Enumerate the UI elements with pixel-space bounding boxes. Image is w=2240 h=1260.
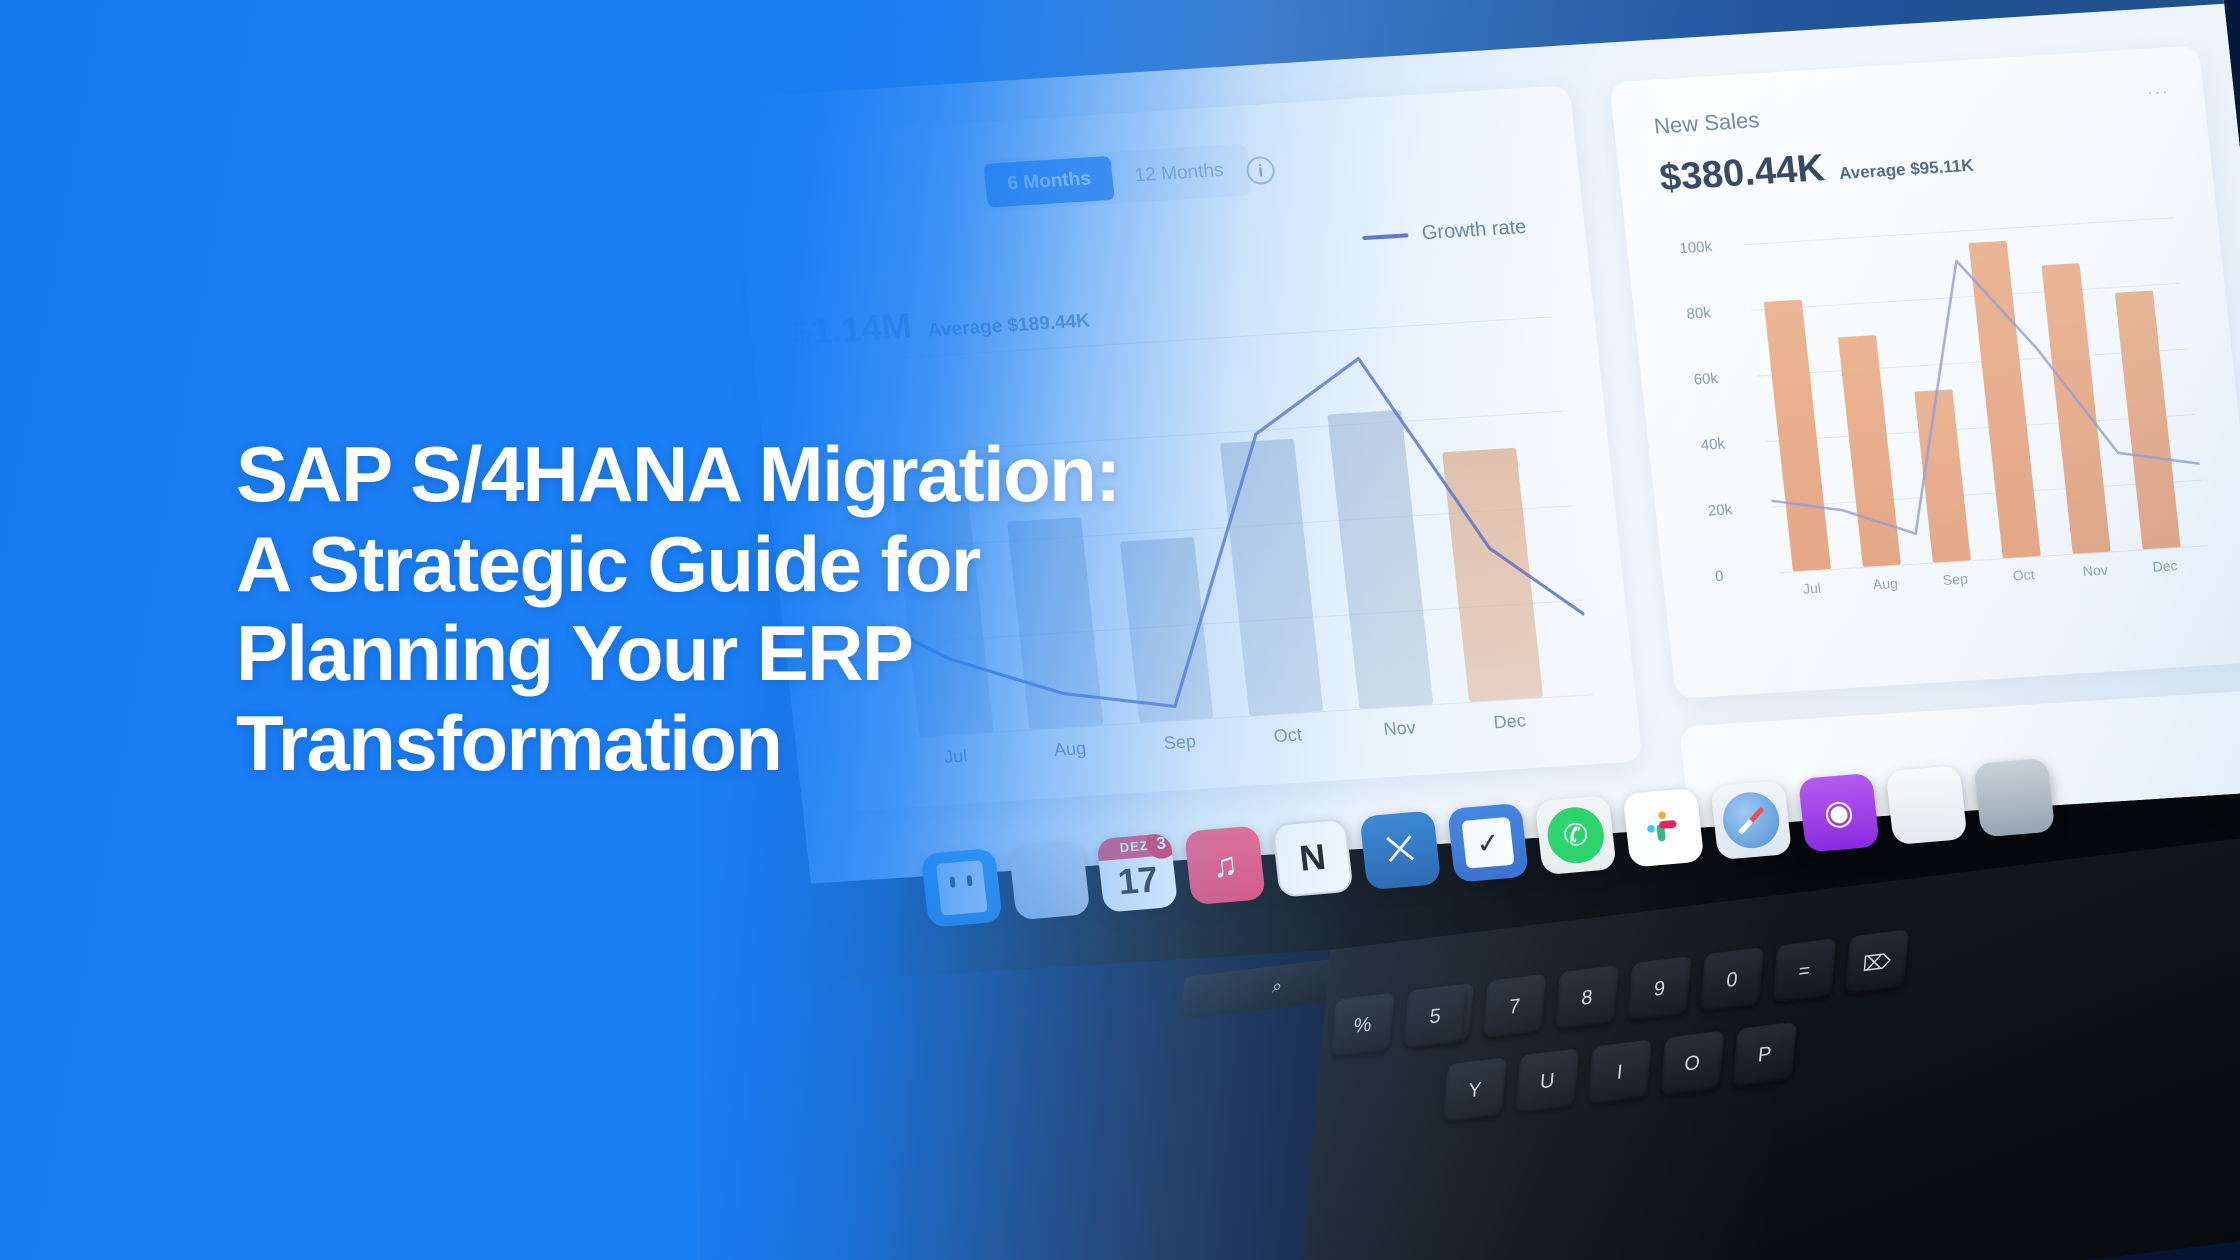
key-p[interactable]: P bbox=[1732, 1022, 1797, 1088]
ytick-40k: 40k bbox=[1700, 436, 1726, 454]
headline-line-1: SAP S/4HANA Migration: bbox=[236, 430, 1416, 520]
ytick-60k: 60k bbox=[1693, 370, 1719, 388]
touchbar-search-icon[interactable]: ⌕ bbox=[1271, 975, 1283, 998]
key-i[interactable]: I bbox=[1587, 1039, 1652, 1105]
new-sales-xtick-sep: Sep bbox=[1942, 571, 1969, 588]
stat-received-label: Received bbox=[874, 0, 1003, 6]
key-7[interactable]: 7 bbox=[1482, 974, 1547, 1040]
page-title: SAP S/4HANA Migration: A Strategic Guide… bbox=[236, 430, 1416, 789]
key-o[interactable]: O bbox=[1660, 1031, 1725, 1097]
notion-icon[interactable]: N bbox=[1272, 818, 1354, 898]
key-5[interactable]: 5 bbox=[1403, 983, 1468, 1049]
new-sales-xtick-jul: Jul bbox=[1802, 580, 1822, 597]
podcasts-icon[interactable]: ◉ bbox=[1798, 773, 1880, 853]
ytick-20k: 20k bbox=[1707, 501, 1733, 519]
stat-row: $163.63K Received $202.36K Last month bbox=[870, 0, 1227, 6]
growth-kpi-average: Average $189.44K bbox=[927, 310, 1091, 342]
growth-legend: Growth rate bbox=[1361, 216, 1528, 249]
slack-icon[interactable] bbox=[1622, 788, 1704, 868]
keyboard-row-percent: % 5 bbox=[1330, 983, 1467, 1058]
whatsapp-glyph: ✆ bbox=[1561, 817, 1590, 854]
new-sales-kpi: $380.44K Average $95.11K bbox=[1658, 138, 1976, 200]
headline-line-4: Transformation bbox=[236, 699, 1416, 789]
calendar-icon[interactable]: DEZ 17 3 bbox=[1096, 833, 1178, 913]
key-y[interactable]: Y bbox=[1442, 1057, 1507, 1123]
preview-icon[interactable] bbox=[1886, 765, 1968, 845]
new-sales-xtick-oct: Oct bbox=[2012, 566, 2035, 583]
headline-line-2: A Strategic Guide for bbox=[236, 520, 1416, 610]
ytick-100k: 100k bbox=[1679, 238, 1713, 257]
key-delete[interactable]: ⌦ bbox=[1844, 929, 1909, 995]
new-sales-card: New Sales ··· $380.44K Average $95.11K 1… bbox=[1609, 45, 2240, 698]
growth-kpi-value: $1.14M bbox=[789, 305, 914, 354]
new-sales-title: New Sales bbox=[1653, 107, 1761, 139]
key-u[interactable]: U bbox=[1515, 1048, 1580, 1114]
new-sales-xtick-dec: Dec bbox=[2152, 557, 2179, 574]
slack-logo bbox=[1638, 803, 1689, 853]
calendar-day-label: 17 bbox=[1099, 857, 1177, 905]
vscode-glyph: ⨉ bbox=[1385, 830, 1416, 871]
finder-icon[interactable] bbox=[921, 848, 1003, 928]
key-percent[interactable]: % bbox=[1330, 992, 1395, 1058]
key-0[interactable]: 0 bbox=[1700, 947, 1765, 1013]
new-sales-trend-line bbox=[1743, 217, 2208, 572]
safari-icon[interactable] bbox=[1710, 780, 1792, 860]
legend-line-swatch bbox=[1362, 233, 1408, 240]
legend-label: Growth rate bbox=[1421, 216, 1528, 245]
whatsapp-icon[interactable]: ✆ bbox=[1535, 795, 1617, 875]
music-icon[interactable]: ♫ bbox=[1184, 825, 1266, 905]
new-sales-xtick-nov: Nov bbox=[2082, 562, 2109, 579]
stat-received: $163.63K Received bbox=[870, 0, 1004, 6]
overflow-menu-icon[interactable]: ··· bbox=[2147, 83, 2171, 102]
vscode-icon[interactable]: ⨉ bbox=[1359, 810, 1441, 890]
new-sales-kpi-value: $380.44K bbox=[1658, 147, 1827, 200]
growth-kpi: $1.14M Average $189.44K bbox=[789, 294, 1091, 354]
headline-line-3: Planning Your ERP bbox=[236, 609, 1416, 699]
key-equals[interactable]: = bbox=[1772, 938, 1837, 1004]
keyboard-row-numbers: 6 7 8 9 0 = ⌦ bbox=[1410, 929, 1909, 1049]
ytick-80k: 80k bbox=[1686, 304, 1712, 322]
hero-banner: $163.63K Received $202.36K Last month Ex… bbox=[0, 0, 2240, 1260]
key-9[interactable]: 9 bbox=[1627, 956, 1692, 1022]
new-sales-xtick-aug: Aug bbox=[1872, 575, 1899, 592]
period-6-months-button[interactable]: 6 Months bbox=[983, 156, 1115, 208]
music-glyph: ♫ bbox=[1210, 845, 1240, 886]
period-12-months-button[interactable]: 12 Months bbox=[1111, 148, 1248, 200]
launchpad-icon[interactable] bbox=[1008, 840, 1090, 920]
things-glyph: ✓ bbox=[1475, 825, 1502, 860]
key-8[interactable]: 8 bbox=[1555, 965, 1620, 1031]
things-icon[interactable]: ✓ bbox=[1447, 803, 1529, 883]
notion-glyph: N bbox=[1297, 836, 1328, 880]
period-toggle[interactable]: 6 Months 12 Months bbox=[979, 143, 1252, 212]
ytick-0: 0 bbox=[1714, 568, 1724, 585]
podcasts-glyph: ◉ bbox=[1822, 792, 1856, 834]
new-sales-kpi-average: Average $95.11K bbox=[1838, 156, 1975, 184]
trash-icon[interactable] bbox=[1973, 758, 2055, 838]
new-sales-chart: 100k 80k 60k 40k 20k 0 bbox=[1743, 217, 2208, 572]
